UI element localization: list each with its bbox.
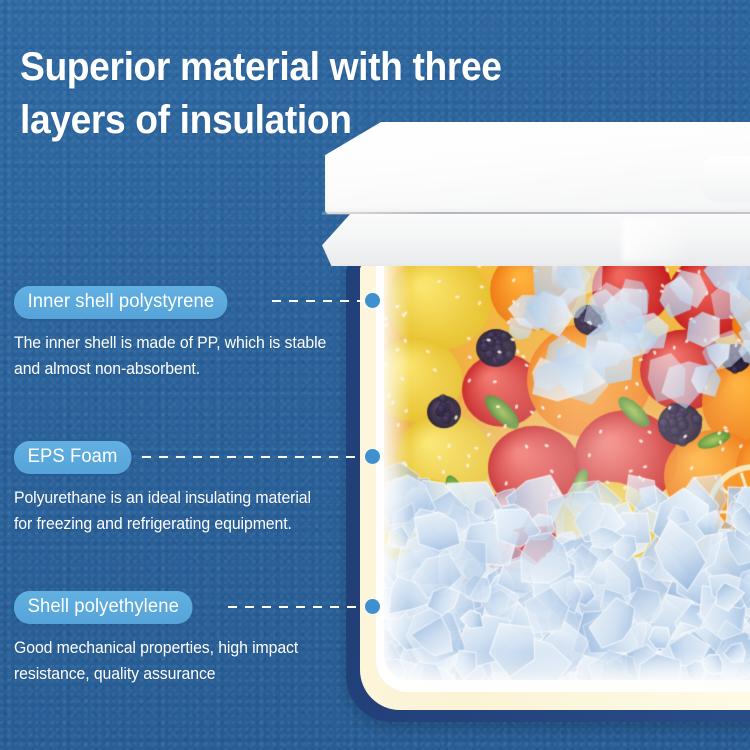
callout-description-eps-foam: Polyurethane is an ideal insulating mate…: [14, 486, 331, 537]
cooler-lid-top: [325, 122, 750, 214]
callout-label-shell-polyethylene: Shell polyethylene: [14, 591, 193, 624]
infographic-page: Superior material with three layers of i…: [0, 0, 750, 750]
callout-description-inner-shell: The inner shell is made of PP, which is …: [14, 331, 331, 382]
cooler-box-illustration: [322, 122, 750, 722]
cooler-contents: [384, 262, 750, 680]
callout-label-eps-foam: EPS Foam: [14, 441, 131, 474]
leader-line-2: [142, 456, 368, 458]
leader-line-3: [228, 606, 368, 608]
callout-description-shell-polyethylene: Good mechanical properties, high impact …: [14, 636, 331, 687]
leader-line-1: [272, 300, 368, 302]
leader-dot-1: [365, 293, 380, 308]
leader-dot-3: [365, 599, 380, 614]
callout-label-inner-shell: Inner shell polystyrene: [14, 286, 228, 319]
leader-dot-2: [365, 449, 380, 464]
lid-latch-icon: [700, 156, 750, 202]
lid-highlight: [622, 218, 692, 262]
